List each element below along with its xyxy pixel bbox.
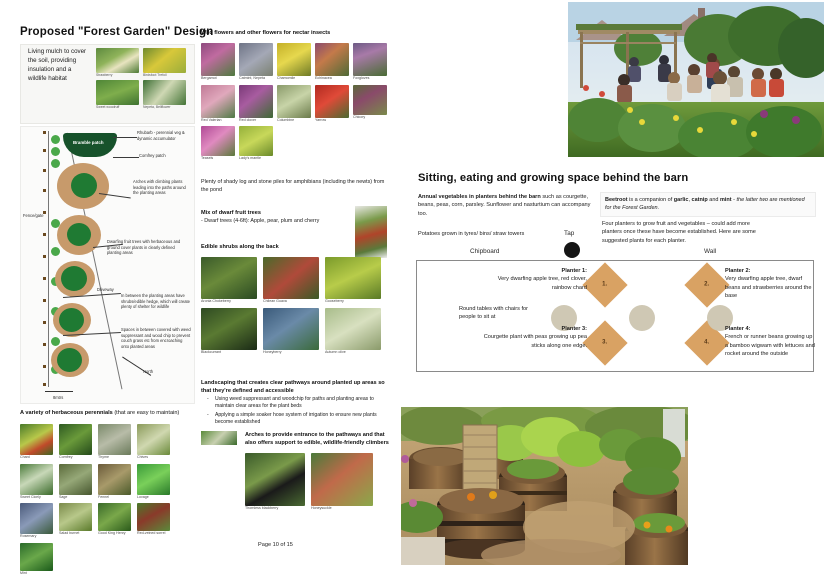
plant-caption: Sage xyxy=(59,496,94,500)
plant-caption: Chard xyxy=(20,456,55,460)
plant-card: Honeyberry xyxy=(263,308,321,355)
fruit-tree-canopy xyxy=(71,173,97,198)
plant-photo xyxy=(325,308,381,350)
forest-garden-document-page: Proposed "Forest Garden" Design Living m… xyxy=(8,14,394,554)
scale-bar xyxy=(45,391,73,392)
plant-card: Mint xyxy=(20,543,55,576)
plant-photo xyxy=(239,43,273,76)
plant-caption: Strawberry xyxy=(96,74,139,77)
plant-card: Red Valerian xyxy=(201,85,235,123)
plant-photo xyxy=(263,308,319,350)
planter-3-desc: Courgette plant with peas growing up pea… xyxy=(484,334,587,348)
beetroot-mid3: and xyxy=(708,197,720,203)
annual-vegetables-bold: Annual vegetables in planters behind the… xyxy=(418,194,541,200)
plant-caption: Sweet woodruff xyxy=(96,106,139,109)
plant-photo xyxy=(59,424,92,455)
plant-caption: Lovage xyxy=(137,496,172,500)
planter-4-number: 4. xyxy=(704,340,709,346)
plant-caption: Aronia Chokeberry xyxy=(201,300,259,304)
barn-growing-space-slide: Sitting, eating and growing space behind… xyxy=(412,168,820,396)
plant-caption: Foxgloves xyxy=(353,77,387,81)
plan-label-8mtrs: 8mtrs xyxy=(53,395,63,401)
plant-caption: Rosemary xyxy=(20,535,55,539)
plant-photo xyxy=(20,543,53,571)
plant-caption: Chicory xyxy=(353,116,387,120)
plant-caption: Columbine xyxy=(277,119,311,123)
plant-caption: Thyme xyxy=(98,456,133,460)
fence-line xyxy=(48,131,49,387)
list-item: Using weed suppressant and woodchip for … xyxy=(215,396,391,411)
plant-caption: Mint xyxy=(20,572,55,576)
edible-shrubs-grid: Aronia Chokeberry Chilean Guava Gooseber… xyxy=(201,255,391,357)
plant-card: Sage xyxy=(59,464,94,500)
plant-caption: Chilean Guava xyxy=(263,300,321,304)
wildflowers-grid: Bergamot Catmint, Nepeta Chamomile Echin… xyxy=(201,41,391,164)
plant-card: Echinacea xyxy=(315,43,349,81)
plant-card: Nepeta, Bellflower xyxy=(143,80,186,109)
plant-card: Rosemary xyxy=(20,503,55,539)
living-mulch-image-grid: Strawberry Birdsfoot Trefoil Sweet woodr… xyxy=(96,48,188,110)
planter-1-marker: 1. xyxy=(582,262,627,307)
planter-2-number: 2. xyxy=(704,282,709,288)
landscaping-section: Landscaping that creates clear pathways … xyxy=(201,380,391,427)
plant-card: Thornless blackberry xyxy=(245,453,307,511)
plant-caption: Blackcurrant xyxy=(201,351,259,355)
page-title: Proposed "Forest Garden" Design xyxy=(20,26,213,38)
chipboard-label: Chipboard xyxy=(470,248,500,255)
planter-4-desc: French or runner beans growing up a bamb… xyxy=(725,334,815,357)
plant-photo xyxy=(239,126,273,156)
plant-photo xyxy=(325,257,381,299)
plant-caption: Chamomile xyxy=(277,77,311,81)
plant-card: Chamomile xyxy=(277,43,311,81)
plant-photo xyxy=(277,43,311,76)
wildflowers-section: Wild flowers and other flowers for necta… xyxy=(201,30,391,163)
leader-line xyxy=(113,137,137,138)
fence-post-icon xyxy=(43,277,46,280)
planter-1-number: 1. xyxy=(602,282,607,288)
plant-caption: Honeyberry xyxy=(263,351,321,355)
fence-post-icon xyxy=(43,321,46,324)
plan-label-fence-gate: Fence/gate xyxy=(23,213,43,219)
plant-card: Thyme xyxy=(98,424,133,460)
plant-caption: Comfrey xyxy=(59,456,94,460)
landscaping-heading: Landscaping that creates clear pathways … xyxy=(201,380,391,395)
plan-label-weed-suppressant: Spaces in between covered with weed supp… xyxy=(121,327,191,349)
hedge-shrub-shape xyxy=(51,337,60,346)
fence-post-icon xyxy=(43,233,46,236)
shady-log-text: Plenty of shady log and stone piles for … xyxy=(201,179,391,195)
fence-post-icon xyxy=(43,169,46,172)
page-number: Page 10 of 15 xyxy=(258,542,293,548)
plant-card: Catmint, Nepeta xyxy=(239,43,273,81)
plant-photo xyxy=(143,48,186,73)
hedge-shrub-shape xyxy=(51,247,60,256)
herbaceous-perennials-section: A variety of herbaceous perennials (that… xyxy=(20,410,198,578)
plant-caption: Thornless blackberry xyxy=(245,507,307,511)
plant-card: Aronia Chokeberry xyxy=(201,257,259,304)
planter-4-label: Planter 4: French or runner beans growin… xyxy=(725,325,815,359)
plant-photo xyxy=(277,85,311,118)
plant-caption: Salad burnet xyxy=(59,532,94,536)
beetroot-mid1: is a companion of xyxy=(628,197,674,203)
plant-photo xyxy=(245,453,305,506)
plant-caption: Teasels xyxy=(201,157,235,161)
fruit-tree-canopy xyxy=(59,308,84,332)
plant-card: Chilean Guava xyxy=(263,257,321,304)
plant-card: Teasels xyxy=(201,126,235,161)
hedge-shrub-shape xyxy=(51,159,60,168)
plan-label-dwarfing-trees: Dwarfing fruit trees with herbaceous and… xyxy=(107,239,183,256)
plant-photo xyxy=(315,85,349,118)
slide-title: Sitting, eating and growing space behind… xyxy=(418,172,688,184)
community-garden-gathering-photo xyxy=(568,2,824,157)
plant-photo xyxy=(239,85,273,118)
plant-card: Blackcurrant xyxy=(201,308,259,355)
plant-caption: Red clover xyxy=(239,119,273,123)
shady-log-note: Plenty of shady log and stone piles for … xyxy=(201,179,391,195)
plant-card: Chives xyxy=(137,424,172,460)
planter-1-title: Planter 1: xyxy=(562,268,588,274)
plant-card: Red clover xyxy=(239,85,273,123)
plant-photo xyxy=(137,424,170,455)
fence-post-icon xyxy=(43,383,46,386)
tap-marker-icon xyxy=(564,242,580,258)
tap-label: Tap xyxy=(564,230,574,237)
plant-card: Chard xyxy=(20,424,55,460)
perennials-heading-rest: (that are easy to maintain) xyxy=(114,410,179,416)
plant-card: Lovage xyxy=(137,464,172,500)
plant-card: Birdsfoot Trefoil xyxy=(143,48,186,77)
beetroot-lead: Beetroot xyxy=(605,197,628,203)
planter-layout-diagram: 1. 2. 3. 4. Planter 1: Very dwarfing app… xyxy=(416,260,814,372)
perennials-grid: Chard Comfrey Thyme Chives Sweet Cicely … xyxy=(20,422,198,578)
plant-card: Salad burnet xyxy=(59,503,94,539)
fence-post-icon xyxy=(43,189,46,192)
four-planters-text: Four planters to grow fruit and vegetabl… xyxy=(602,220,762,245)
fence-post-icon xyxy=(43,343,46,346)
plan-label-driveway: Driveway xyxy=(97,287,137,293)
plant-photo xyxy=(201,257,257,299)
round-tables-label: Round tables with chairs for people to s… xyxy=(459,305,545,322)
north-arrow-icon xyxy=(122,357,151,376)
plant-photo xyxy=(201,126,235,156)
plant-card: Chicory xyxy=(353,85,387,123)
plant-photo xyxy=(96,80,139,105)
planter-3-marker: 3. xyxy=(582,320,627,365)
plant-photo xyxy=(20,464,53,495)
plant-caption: Gooseberry xyxy=(325,300,383,304)
arches-plant-grid: Thornless blackberry Honeysuckle xyxy=(201,451,391,513)
plant-caption: Red-veined sorrel xyxy=(137,532,172,536)
planter-2-title: Planter 2: xyxy=(725,268,751,274)
fruit-tree-canopy xyxy=(61,266,87,291)
plant-card: Lady's mantle xyxy=(239,126,273,161)
photo-svg xyxy=(401,407,688,565)
plant-caption: Bergamot xyxy=(201,77,235,81)
plant-card: Foxgloves xyxy=(353,43,387,81)
plant-card: Good King Henry xyxy=(98,503,133,539)
living-mulch-text: Living mulch to cover the soil, providin… xyxy=(28,48,90,84)
plant-photo xyxy=(263,257,319,299)
edible-shrubs-heading: Edible shrubs along the back xyxy=(201,244,391,252)
planter-4-title: Planter 4: xyxy=(725,326,751,332)
plant-photo xyxy=(201,85,235,118)
beetroot-companion-note: Beetroot is a companion of garlic, catni… xyxy=(600,192,816,217)
plant-photo xyxy=(98,503,131,531)
plant-card: Red-veined sorrel xyxy=(137,503,172,539)
plant-photo xyxy=(137,503,170,531)
plant-card: Strawberry xyxy=(96,48,139,77)
plant-card: Autumn olive xyxy=(325,308,383,355)
planter-3-number: 3. xyxy=(602,340,607,346)
planter-2-label: Planter 2: Very dwarfing apple tree, dwa… xyxy=(725,267,815,301)
plant-caption: Lady's mantle xyxy=(239,157,273,161)
planter-2-desc: Very dwarfing apple tree, dwarf beans an… xyxy=(725,276,811,299)
plant-card: Sweet Cicely xyxy=(20,464,55,500)
plant-caption: Chives xyxy=(137,456,172,460)
fruit-tree-canopy xyxy=(67,223,91,246)
plant-photo xyxy=(353,85,387,115)
hedge-shrub-shape xyxy=(51,147,60,156)
plant-caption: Good King Henry xyxy=(98,532,133,536)
plant-card: Honeysuckle xyxy=(311,453,375,511)
wildflowers-heading: Wild flowers and other flowers for necta… xyxy=(201,30,391,38)
wall-label: Wall xyxy=(704,248,716,255)
plant-photo xyxy=(137,464,170,495)
plant-photo xyxy=(59,464,92,495)
planter-1-label: Planter 1: Very dwarfing apple tree, red… xyxy=(483,267,587,292)
plant-card: Columbine xyxy=(277,85,311,123)
plant-photo xyxy=(96,48,139,73)
plan-label-bramble: Bramble patch xyxy=(73,140,104,146)
fence-post-icon xyxy=(43,149,46,152)
list-item: Applying a simple soaker hose system of … xyxy=(215,412,391,427)
beetroot-garlic: garlic xyxy=(674,197,689,203)
fence-post-icon xyxy=(43,131,46,134)
plant-photo xyxy=(353,43,387,76)
plant-caption: Catmint, Nepeta xyxy=(239,77,273,81)
perennials-heading-bold: A variety of herbaceous perennials xyxy=(20,410,113,416)
plant-caption: Nepeta, Bellflower xyxy=(143,106,186,109)
plant-photo xyxy=(20,503,53,534)
plan-label-rhubarb: Rhubarb - perennial veg & dynamic accumu… xyxy=(137,130,193,141)
plant-photo xyxy=(315,43,349,76)
arch-thumbnail-photo xyxy=(201,431,237,445)
perennials-heading: A variety of herbaceous perennials (that… xyxy=(20,410,198,418)
fruit-tree-canopy xyxy=(57,348,82,372)
barrel-planters-garden-photo xyxy=(401,407,688,565)
planter-3-title: Planter 3: xyxy=(562,326,588,332)
planter-2-marker: 2. xyxy=(684,262,729,307)
landscaping-bullet-list: Using weed suppressant and woodchip for … xyxy=(215,396,391,427)
plan-label-arches: Arches with climbing plants leading into… xyxy=(133,179,191,196)
plant-photo xyxy=(20,424,53,455)
planter-1-desc: Very dwarfing apple tree, red clover, ra… xyxy=(498,276,587,290)
plant-photo xyxy=(201,308,257,350)
round-table-shape xyxy=(629,305,655,331)
plant-caption: Yarrow xyxy=(315,119,349,123)
plant-photo xyxy=(59,503,92,531)
plant-photo xyxy=(201,43,235,76)
plant-caption: Sweet Cicely xyxy=(20,496,55,500)
fence-post-icon xyxy=(43,255,46,258)
plant-card: Sweet woodruff xyxy=(96,80,139,109)
forest-garden-plan-diagram: Bramble patch Rhubarb - perennial veg & … xyxy=(20,126,195,404)
plant-card: Bergamot xyxy=(201,43,235,81)
annual-vegetables-text: Annual vegetables in planters behind the… xyxy=(418,193,594,218)
photo-svg xyxy=(568,2,824,157)
plant-caption: Red Valerian xyxy=(201,119,235,123)
fence-post-icon xyxy=(43,299,46,302)
plant-card: Comfrey xyxy=(59,424,94,460)
fence-post-icon xyxy=(43,365,46,368)
plan-label-comfrey: Comfrey patch xyxy=(139,153,191,159)
plant-caption: Autumn olive xyxy=(325,351,383,355)
beetroot-catnip: catnip xyxy=(692,197,708,203)
planter-3-label: Planter 3: Courgette plant with peas gro… xyxy=(477,325,587,350)
plan-label-hedge: In between the planting areas have shrub… xyxy=(121,293,191,310)
plant-photo xyxy=(143,80,186,105)
plant-caption: Fennel xyxy=(98,496,133,500)
plant-caption: Echinacea xyxy=(315,77,349,81)
plant-card: Gooseberry xyxy=(325,257,383,304)
plant-card: Fennel xyxy=(98,464,133,500)
plant-caption: Honeysuckle xyxy=(311,507,375,511)
plant-photo xyxy=(98,464,131,495)
hedge-shrub-shape xyxy=(51,135,60,144)
plant-card: Yarrow xyxy=(315,85,349,123)
plant-caption: Birdsfoot Trefoil xyxy=(143,74,186,77)
edible-shrubs-section: Edible shrubs along the back Aronia Chok… xyxy=(201,244,391,356)
plant-photo xyxy=(98,424,131,455)
plant-photo xyxy=(311,453,373,506)
beetroot-mint: mint xyxy=(720,197,732,203)
leader-line xyxy=(113,157,139,158)
